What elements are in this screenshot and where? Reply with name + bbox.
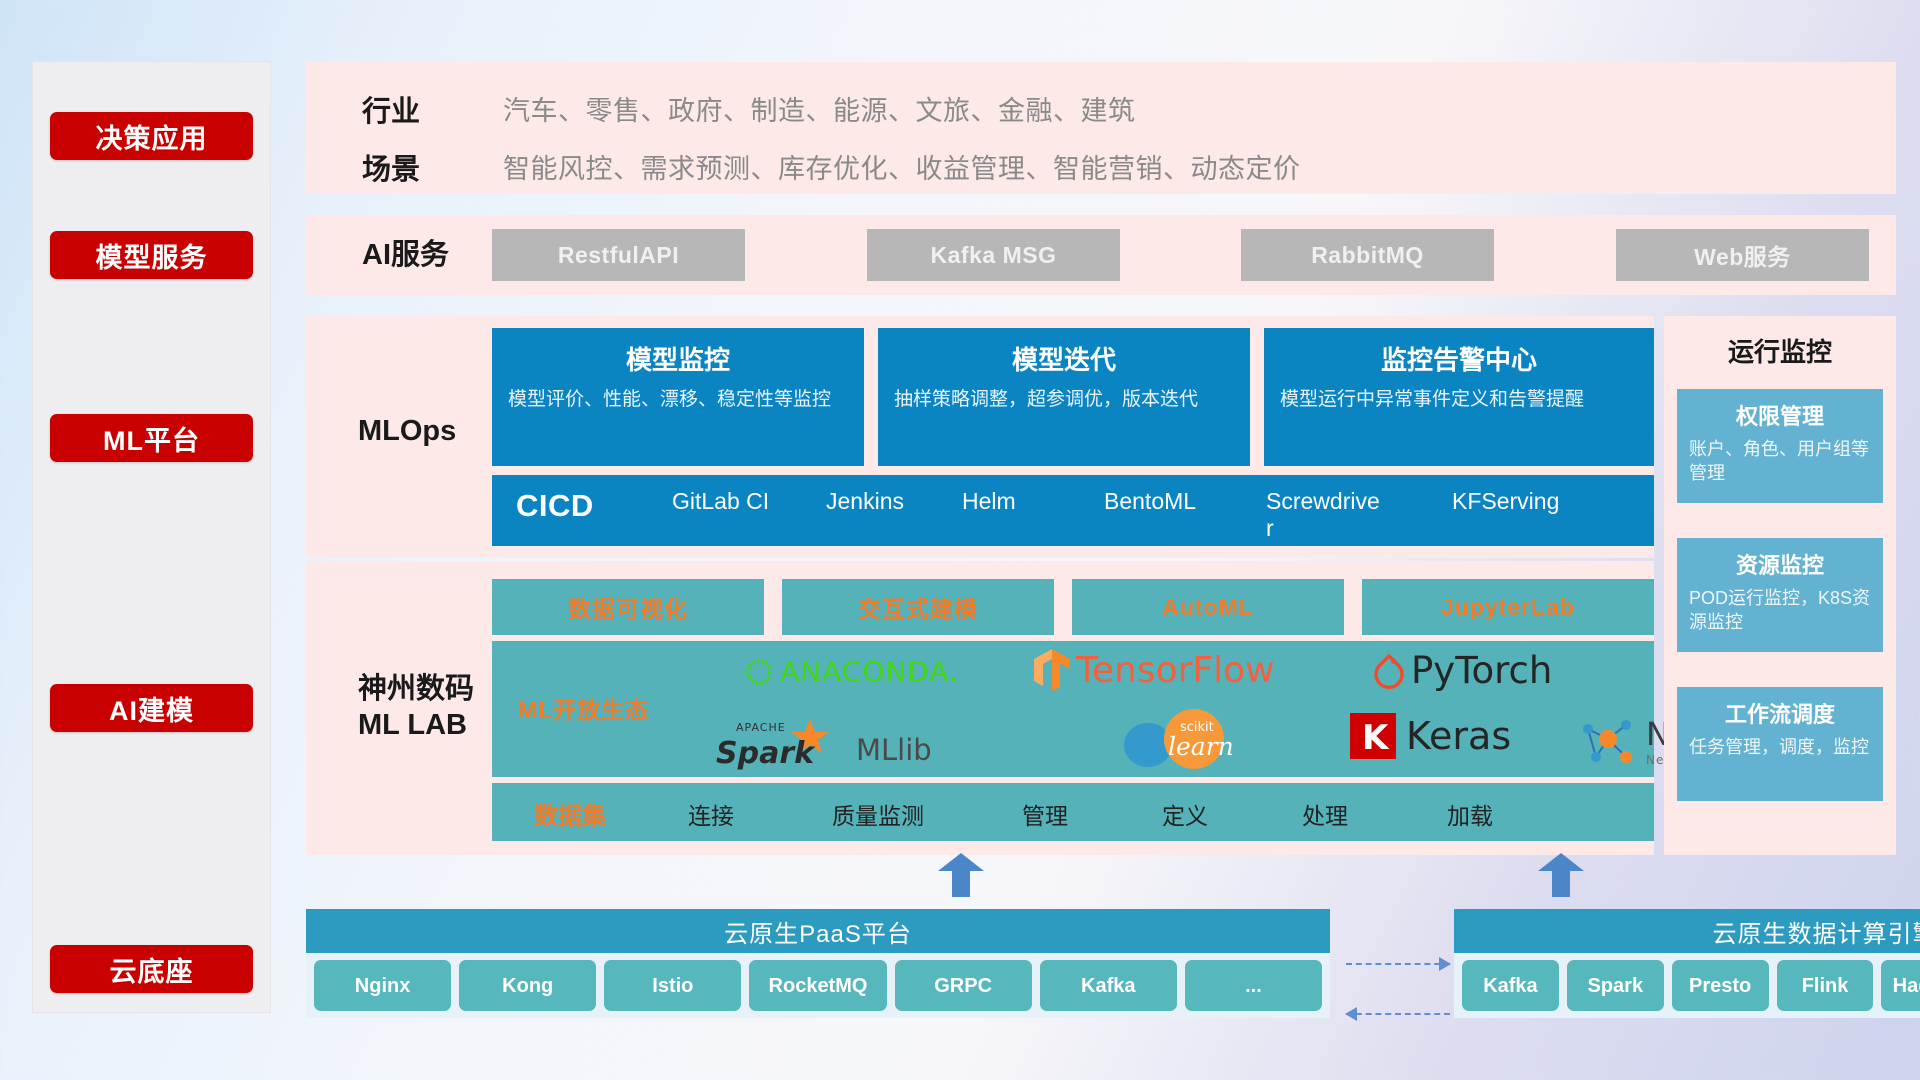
stage-chip-ai-modeling[interactable]: AI建模 — [50, 684, 253, 732]
cicd-item-helm[interactable]: Helm — [962, 488, 1080, 515]
cicd-item-label: GitLab CI — [672, 488, 769, 514]
keras-mark: K — [1348, 711, 1398, 761]
dataset-item-label: 定义 — [1162, 803, 1208, 829]
paas-title: 云原生PaaS平台 — [306, 909, 1330, 953]
service-chip-label: RestfulAPI — [558, 242, 679, 269]
chip-label: Hadoop — [1893, 975, 1920, 997]
ml-ecosystem-label: ML开放生态 — [518, 691, 649, 725]
svg-text:learn: learn — [1168, 732, 1234, 761]
engine-chip-flink[interactable]: Flink — [1777, 960, 1874, 1011]
card-title: 权限管理 — [1689, 399, 1871, 431]
stage-chip-cloud-base[interactable]: 云底座 — [50, 945, 253, 993]
engine-chip-hadoop[interactable]: Hadoop — [1881, 960, 1920, 1011]
lab-tab-jupyterlab[interactable]: JupyterLab — [1362, 579, 1654, 635]
lab-tab-label: AutoML — [1162, 594, 1254, 621]
chip-label: Kong — [502, 975, 553, 997]
stage-label: 云底座 — [110, 950, 194, 989]
card-desc: 模型运行中异常事件定义和告警提醒 — [1280, 387, 1638, 413]
engine-chip-presto[interactable]: Presto — [1672, 960, 1769, 1011]
service-chip-web[interactable]: Web服务 — [1616, 229, 1869, 281]
stage-label: AI建模 — [109, 689, 194, 728]
lab-tab-automl[interactable]: AutoML — [1072, 579, 1344, 635]
paas-chip-nginx[interactable]: Nginx — [314, 960, 451, 1011]
monitoring-column: 运行监控 权限管理 账户、角色、用户组等管理 资源监控 POD运行监控，K8S资… — [1664, 316, 1896, 855]
engine-up-arrow — [1538, 853, 1584, 897]
chip-label: Flink — [1802, 975, 1849, 997]
cicd-item-screwdriver[interactable]: Screwdriver — [1266, 488, 1384, 542]
anaconda-wordmark: ANACONDA. — [780, 655, 959, 688]
data-engine-group: 云原生数据计算引擎 Kafka Spark Presto Flink Hadoo… — [1454, 909, 1920, 1018]
dataset-item-manage[interactable]: 管理 — [1022, 797, 1068, 831]
keras-logo: K Keras — [1348, 711, 1511, 761]
mlops-card-model-monitoring[interactable]: 模型监控 模型评价、性能、漂移、稳定性等监控 — [492, 328, 864, 466]
chip-label: Kafka — [1081, 975, 1135, 997]
monitoring-card-workflow[interactable]: 工作流调度 任务管理，调度，监控 — [1677, 687, 1883, 801]
spark-mark: APACHE Spark — [714, 715, 850, 771]
svg-text:K: K — [1362, 718, 1390, 758]
cicd-item-jenkins[interactable]: Jenkins — [826, 488, 944, 515]
card-desc: 账户、角色、用户组等管理 — [1689, 437, 1871, 486]
networkx-mark — [1578, 715, 1640, 769]
scenario-label: 场景 — [362, 146, 420, 188]
service-chip-kafka-msg[interactable]: Kafka MSG — [867, 229, 1120, 281]
monitoring-title: 运行监控 — [1664, 332, 1896, 369]
chip-label: GRPC — [934, 975, 992, 997]
paas-up-arrow — [938, 853, 984, 897]
stage-chip-decision[interactable]: 决策应用 — [50, 112, 253, 160]
card-desc: 抽样策略调整，超参调优，版本迭代 — [894, 387, 1234, 413]
stage-label: 决策应用 — [96, 117, 208, 156]
paas-chip-rocketmq[interactable]: RocketMQ — [749, 960, 886, 1011]
cicd-title: CICD — [516, 488, 594, 524]
tensorflow-mark — [1032, 647, 1072, 693]
industry-label: 行业 — [362, 88, 420, 130]
chip-label: Presto — [1689, 975, 1751, 997]
architecture-diagram: 决策应用 模型服务 ML平台 AI建模 云底座 行业 汽车、零售、政府、制造、能… — [0, 0, 1920, 1080]
lab-tab-label: JupyterLab — [1441, 594, 1575, 621]
engine-title: 云原生数据计算引擎 — [1454, 909, 1920, 953]
mlops-band: MLOps 模型监控 模型评价、性能、漂移、稳定性等监控 模型迭代 抽样策略调整… — [306, 316, 1654, 558]
service-chip-rabbitmq[interactable]: RabbitMQ — [1241, 229, 1494, 281]
monitoring-card-resource[interactable]: 资源监控 POD运行监控，K8S资源监控 — [1677, 538, 1883, 652]
tensorflow-wordmark: TensorFlow — [1076, 650, 1275, 691]
paas-chip-more[interactable]: ... — [1185, 960, 1322, 1011]
application-band: 行业 汽车、零售、政府、制造、能源、文旅、金融、建筑 场景 智能风控、需求预测、… — [306, 62, 1896, 194]
chip-label: Kafka — [1483, 975, 1537, 997]
mlops-label: MLOps — [358, 413, 456, 449]
monitoring-card-permission[interactable]: 权限管理 账户、角色、用户组等管理 — [1677, 389, 1883, 503]
lab-tab-interactive-modeling[interactable]: 交互式建模 — [782, 579, 1054, 635]
ml-lab-band: 神州数码 ML LAB 数据可视化 交互式建模 AutoML JupyterLa… — [306, 561, 1654, 855]
paas-chip-grpc[interactable]: GRPC — [895, 960, 1032, 1011]
card-desc: POD运行监控，K8S资源监控 — [1689, 586, 1871, 635]
service-chip-label: Web服务 — [1694, 238, 1791, 272]
paas-chip-istio[interactable]: Istio — [604, 960, 741, 1011]
dataflow-arrow-right — [1346, 963, 1450, 965]
engine-chip-tray: Kafka Spark Presto Flink Hadoop Storm ..… — [1454, 953, 1920, 1018]
card-desc: 任务管理，调度，监控 — [1689, 735, 1871, 759]
service-chip-label: Kafka MSG — [931, 242, 1057, 269]
cicd-item-label: Jenkins — [826, 488, 904, 514]
ml-lab-label: 神州数码 ML LAB — [358, 671, 474, 744]
dataset-item-process[interactable]: 处理 — [1302, 797, 1348, 831]
dataset-title: 数据集 — [534, 796, 606, 831]
service-chip-label: RabbitMQ — [1311, 242, 1424, 269]
paas-chip-kafka[interactable]: Kafka — [1040, 960, 1177, 1011]
cicd-item-gitlab-ci[interactable]: GitLab CI — [672, 488, 790, 515]
card-desc: 模型评价、性能、漂移、稳定性等监控 — [508, 387, 848, 413]
tensorflow-logo: TensorFlow — [1032, 647, 1275, 693]
chip-label: Spark — [1587, 975, 1643, 997]
dataset-item-connect[interactable]: 连接 — [688, 797, 734, 831]
dataset-item-quality[interactable]: 质量监测 — [832, 797, 924, 831]
service-chip-restfulapi[interactable]: RestfulAPI — [492, 229, 745, 281]
mlops-card-alert-center[interactable]: 监控告警中心 模型运行中异常事件定义和告警提醒 — [1264, 328, 1654, 466]
cicd-bar: CICD GitLab CI Jenkins Helm BentoML Scre… — [492, 475, 1654, 546]
stage-chip-ml-platform[interactable]: ML平台 — [50, 414, 253, 462]
dataset-item-load[interactable]: 加载 — [1447, 797, 1493, 831]
keras-wordmark: Keras — [1406, 714, 1511, 758]
stage-rail: 决策应用 模型服务 ML平台 AI建模 云底座 — [33, 62, 270, 1012]
main-column: 行业 汽车、零售、政府、制造、能源、文旅、金融、建筑 场景 智能风控、需求预测、… — [306, 0, 1896, 1080]
ai-service-label: AI服务 — [362, 237, 449, 273]
dataset-item-label: 质量监测 — [832, 803, 924, 829]
chip-label: Nginx — [355, 975, 411, 997]
lab-tab-label: 交互式建模 — [858, 590, 978, 624]
card-title: 模型迭代 — [894, 340, 1234, 377]
cicd-item-label: Helm — [962, 488, 1016, 514]
dataset-item-label: 处理 — [1302, 803, 1348, 829]
pytorch-mark — [1372, 652, 1406, 690]
dataset-item-label: 管理 — [1022, 803, 1068, 829]
scikit-learn-logo: scikit learn — [1118, 709, 1246, 771]
chip-label: ... — [1245, 975, 1262, 997]
mllib-wordmark: MLlib — [856, 733, 932, 767]
dataset-item-label: 连接 — [688, 803, 734, 829]
engine-chip-kafka[interactable]: Kafka — [1462, 960, 1559, 1011]
dataset-item-define[interactable]: 定义 — [1162, 797, 1208, 831]
stage-label: ML平台 — [103, 419, 200, 458]
paas-chip-tray: Nginx Kong Istio RocketMQ GRPC Kafka ... — [306, 953, 1330, 1018]
chip-label: RocketMQ — [769, 975, 868, 997]
ml-ecosystem-box: ML开放生态 ANACONDA. TensorFlow — [492, 641, 1654, 777]
cicd-item-label: BentoML — [1104, 488, 1196, 514]
paas-group: 云原生PaaS平台 Nginx Kong Istio RocketMQ GRPC… — [306, 909, 1330, 1018]
card-title: 工作流调度 — [1689, 697, 1871, 729]
stage-label: 模型服务 — [96, 236, 208, 275]
industry-text: 汽车、零售、政府、制造、能源、文旅、金融、建筑 — [503, 89, 1136, 128]
stage-chip-model-service[interactable]: 模型服务 — [50, 231, 253, 279]
ai-service-band: AI服务 RestfulAPI Kafka MSG RabbitMQ Web服务 — [306, 215, 1896, 295]
chip-label: Istio — [652, 975, 693, 997]
pytorch-logo: PyTorch — [1372, 649, 1552, 692]
cicd-item-bentoml[interactable]: BentoML — [1104, 488, 1222, 515]
cicd-item-label: KFServing — [1452, 488, 1559, 514]
spark-mllib-logo: APACHE Spark MLlib — [714, 715, 932, 771]
card-title: 监控告警中心 — [1280, 340, 1638, 377]
svg-text:Spark: Spark — [716, 736, 816, 771]
scikit-learn-mark: scikit learn — [1118, 709, 1246, 771]
lab-tab-label: 数据可视化 — [568, 590, 688, 624]
dataset-bar: 数据集 连接 质量监测 管理 定义 处理 加载 — [492, 783, 1654, 841]
pytorch-wordmark: PyTorch — [1411, 649, 1552, 692]
mlops-card-model-iteration[interactable]: 模型迭代 抽样策略调整，超参调优，版本迭代 — [878, 328, 1250, 466]
card-title: 模型监控 — [508, 340, 848, 377]
dataflow-arrow-left — [1346, 1013, 1450, 1015]
cicd-item-kfserving[interactable]: KFServing — [1452, 488, 1570, 515]
engine-chip-spark[interactable]: Spark — [1567, 960, 1664, 1011]
svg-text:APACHE: APACHE — [736, 721, 786, 734]
card-title: 资源监控 — [1689, 548, 1871, 580]
paas-chip-kong[interactable]: Kong — [459, 960, 596, 1011]
anaconda-mark — [744, 657, 774, 687]
dataset-item-label: 加载 — [1447, 803, 1493, 829]
anaconda-logo: ANACONDA. — [744, 655, 959, 688]
scenario-text: 智能风控、需求预测、库存优化、收益管理、智能营销、动态定价 — [503, 147, 1301, 186]
cicd-item-label: Screwdriver — [1266, 488, 1380, 541]
lab-tab-data-visualization[interactable]: 数据可视化 — [492, 579, 764, 635]
